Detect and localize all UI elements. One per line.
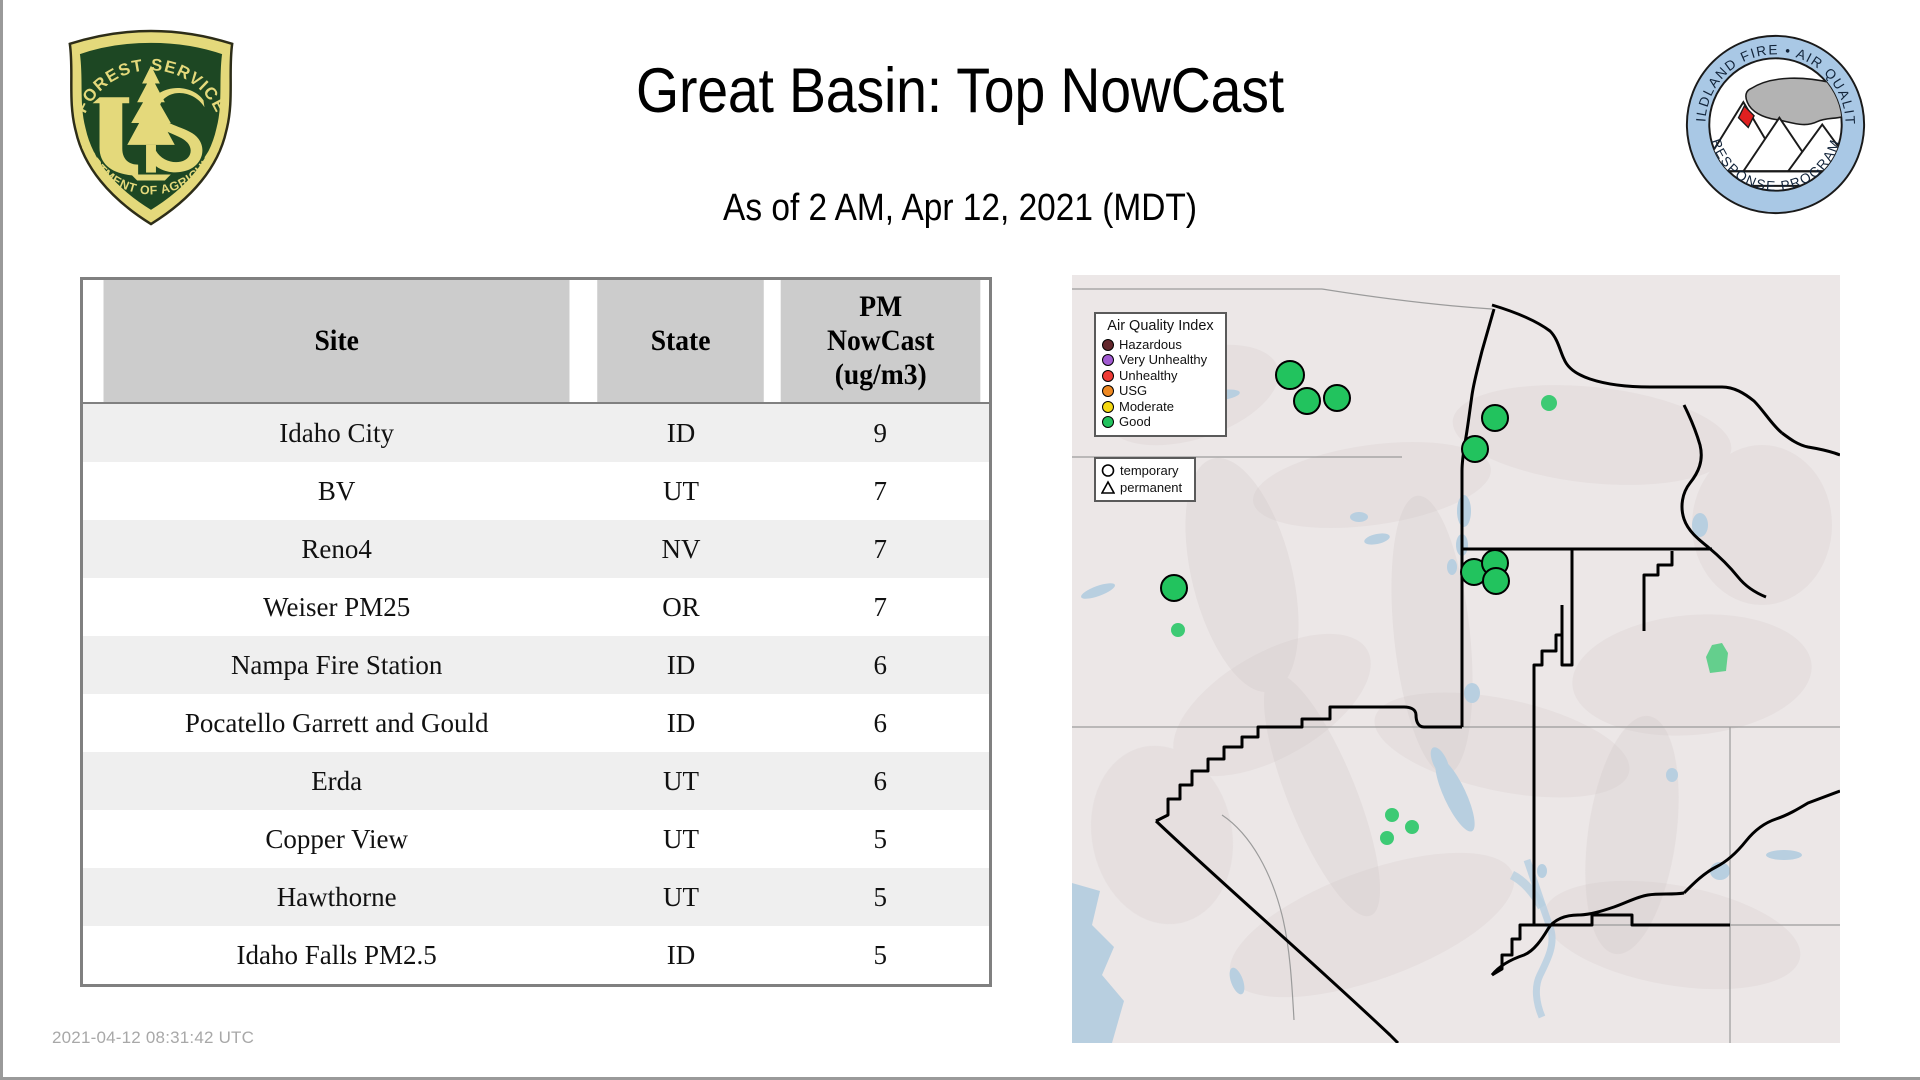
aqi-legend-label: Hazardous [1119, 338, 1182, 352]
page-frame-left-edge [0, 0, 3, 1080]
pm-nowcast-cell: 7 [772, 462, 989, 520]
aqi-legend-label: Moderate [1119, 400, 1174, 414]
state-cell: ID [590, 403, 771, 462]
pm-nowcast-cell: 6 [772, 694, 989, 752]
site-cell: Weiser PM25 [83, 578, 590, 636]
table-row: Reno4NV7 [83, 520, 989, 578]
aqi-legend-rows: HazardousVery UnhealthyUnhealthyUSGModer… [1102, 337, 1219, 430]
aqi-color-swatch-icon [1102, 385, 1114, 397]
great-basin-map[interactable]: Air Quality Index HazardousVery Unhealth… [1072, 275, 1840, 1043]
table-header: Site State PM NowCast (ug/m3) [83, 280, 989, 403]
state-cell: ID [590, 926, 771, 984]
legend-row-permanent: permanent [1101, 479, 1189, 496]
aqi-legend-row: Very Unhealthy [1102, 353, 1219, 369]
aqi-legend-label: Unhealthy [1119, 369, 1178, 383]
legend-label-permanent: permanent [1120, 481, 1182, 495]
state-cell: UT [590, 462, 771, 520]
table-row: BVUT7 [83, 462, 989, 520]
nowcast-table: Site State PM NowCast (ug/m3) Idaho City… [83, 280, 989, 984]
map-station-marker[interactable] [1405, 820, 1419, 834]
wfaqrp-seal-logo: WILDLAND FIRE • AIR QUALITY RESPONSE PRO… [1683, 32, 1868, 217]
table-row: HawthorneUT5 [83, 868, 989, 926]
pm-nowcast-cell: 6 [772, 636, 989, 694]
column-header-state: State [598, 280, 765, 403]
site-cell: BV [83, 462, 590, 520]
map-station-marker[interactable] [1323, 384, 1351, 412]
map-station-marker[interactable] [1482, 567, 1510, 595]
air-quality-index-legend: Air Quality Index HazardousVery Unhealth… [1094, 312, 1227, 437]
site-cell: Idaho Falls PM2.5 [83, 926, 590, 984]
site-cell: Pocatello Garrett and Gould [83, 694, 590, 752]
site-cell: Idaho City [83, 403, 590, 462]
aqi-legend-row: Unhealthy [1102, 368, 1219, 384]
aqi-legend-label: Good [1119, 415, 1151, 429]
state-cell: UT [590, 752, 771, 810]
pm-nowcast-cell: 9 [772, 403, 989, 462]
state-cell: NV [590, 520, 771, 578]
map-station-marker[interactable] [1380, 831, 1394, 845]
site-cell: Copper View [83, 810, 590, 868]
table-row: Copper ViewUT5 [83, 810, 989, 868]
map-station-marker[interactable] [1275, 360, 1305, 390]
state-cell: ID [590, 694, 771, 752]
generation-timestamp: 2021-04-12 08:31:42 UTC [52, 1028, 254, 1048]
state-cell: OR [590, 578, 771, 636]
map-station-marker[interactable] [1385, 808, 1399, 822]
aqi-legend-title: Air Quality Index [1102, 318, 1219, 334]
aqi-color-swatch-icon [1102, 416, 1114, 428]
triangle-icon [1101, 480, 1115, 495]
site-cell: Erda [83, 752, 590, 810]
map-station-marker[interactable] [1481, 404, 1509, 432]
column-header-pm-line1: PM [784, 290, 977, 324]
column-header-site: Site [103, 280, 570, 403]
nowcast-table-container: Site State PM NowCast (ug/m3) Idaho City… [80, 277, 992, 987]
map-station-marker[interactable] [1171, 623, 1185, 637]
table-body: Idaho CityID9BVUT7Reno4NV7Weiser PM25OR7… [83, 403, 989, 984]
page-subtitle: As of 2 AM, Apr 12, 2021 (MDT) [379, 185, 1541, 231]
table-row: ErdaUT6 [83, 752, 989, 810]
aqi-legend-row: USG [1102, 384, 1219, 400]
pm-nowcast-cell: 6 [772, 752, 989, 810]
site-cell: Reno4 [83, 520, 590, 578]
map-station-marker[interactable] [1461, 435, 1489, 463]
state-cell: UT [590, 868, 771, 926]
aqi-color-swatch-icon [1102, 354, 1114, 366]
aqi-color-swatch-icon [1102, 401, 1114, 413]
usfs-shield-logo: FOREST SERVICE DEPARTMENT OF AGRICULTURE [52, 28, 250, 228]
legend-row-temporary: temporary [1101, 462, 1189, 479]
map-station-marker[interactable] [1160, 574, 1188, 602]
table-row: Idaho CityID9 [83, 403, 989, 462]
page-title: Great Basin: Top NowCast [379, 55, 1541, 127]
aqi-legend-label: Very Unhealthy [1119, 353, 1207, 367]
table-row: Nampa Fire StationID6 [83, 636, 989, 694]
state-cell: UT [590, 810, 771, 868]
legend-label-temporary: temporary [1120, 464, 1179, 478]
column-header-pm-line2: NowCast [784, 324, 977, 358]
column-header-pm-nowcast: PM NowCast (ug/m3) [780, 280, 980, 403]
table-row: Pocatello Garrett and GouldID6 [83, 694, 989, 752]
map-station-marker[interactable] [1541, 395, 1557, 411]
table-row: Weiser PM25OR7 [83, 578, 989, 636]
aqi-legend-label: USG [1119, 384, 1147, 398]
station-type-legend: temporary permanent [1094, 457, 1196, 502]
pm-nowcast-cell: 7 [772, 578, 989, 636]
aqi-legend-row: Good [1102, 415, 1219, 431]
pm-nowcast-cell: 5 [772, 868, 989, 926]
table-row: Idaho Falls PM2.5ID5 [83, 926, 989, 984]
map-station-marker[interactable] [1293, 387, 1321, 415]
aqi-legend-row: Hazardous [1102, 337, 1219, 353]
pm-nowcast-cell: 5 [772, 926, 989, 984]
aqi-color-swatch-icon [1102, 370, 1114, 382]
state-cell: ID [590, 636, 771, 694]
site-cell: Nampa Fire Station [83, 636, 590, 694]
aqi-color-swatch-icon [1102, 339, 1114, 351]
pm-nowcast-cell: 5 [772, 810, 989, 868]
circle-icon [1101, 463, 1115, 478]
site-cell: Hawthorne [83, 868, 590, 926]
pm-nowcast-cell: 7 [772, 520, 989, 578]
column-header-pm-line3: (ug/m3) [784, 358, 977, 392]
aqi-legend-row: Moderate [1102, 399, 1219, 415]
